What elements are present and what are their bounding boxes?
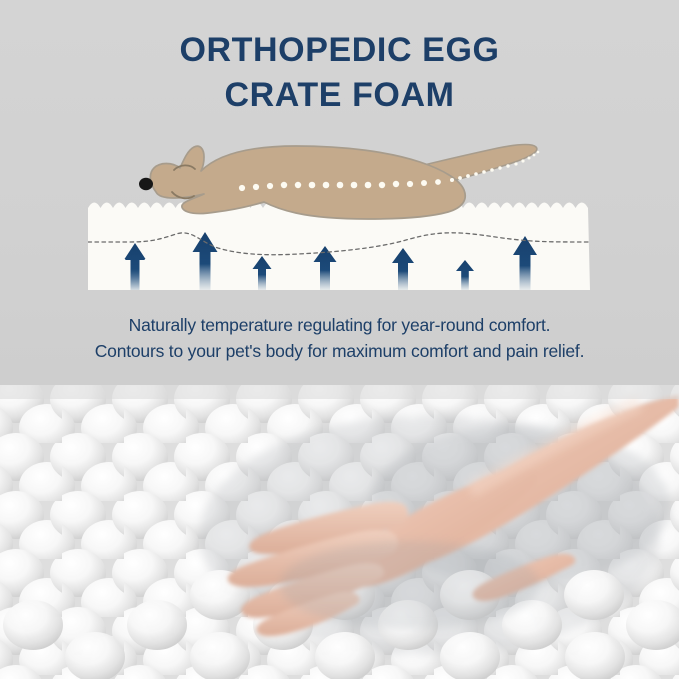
benefit-line-1: Naturally temperature regulating for yea… <box>0 312 679 338</box>
title-line-2: CRATE FOAM <box>0 73 679 118</box>
sleeping-dog-illustration <box>100 130 570 250</box>
page-title: ORTHOPEDIC EGG CRATE FOAM <box>0 28 679 118</box>
title-line-1: ORTHOPEDIC EGG <box>0 28 679 73</box>
dog-body <box>150 146 465 219</box>
foam-photo <box>0 385 679 679</box>
top-panel: ORTHOPEDIC EGG CRATE FOAM <box>0 0 679 385</box>
dog-nose-icon <box>139 178 153 190</box>
product-infographic: ORTHOPEDIC EGG CRATE FOAM <box>0 0 679 679</box>
benefit-copy: Naturally temperature regulating for yea… <box>0 312 679 364</box>
foam-surface <box>0 385 679 679</box>
benefit-line-2: Contours to your pet's body for maximum … <box>0 338 679 364</box>
